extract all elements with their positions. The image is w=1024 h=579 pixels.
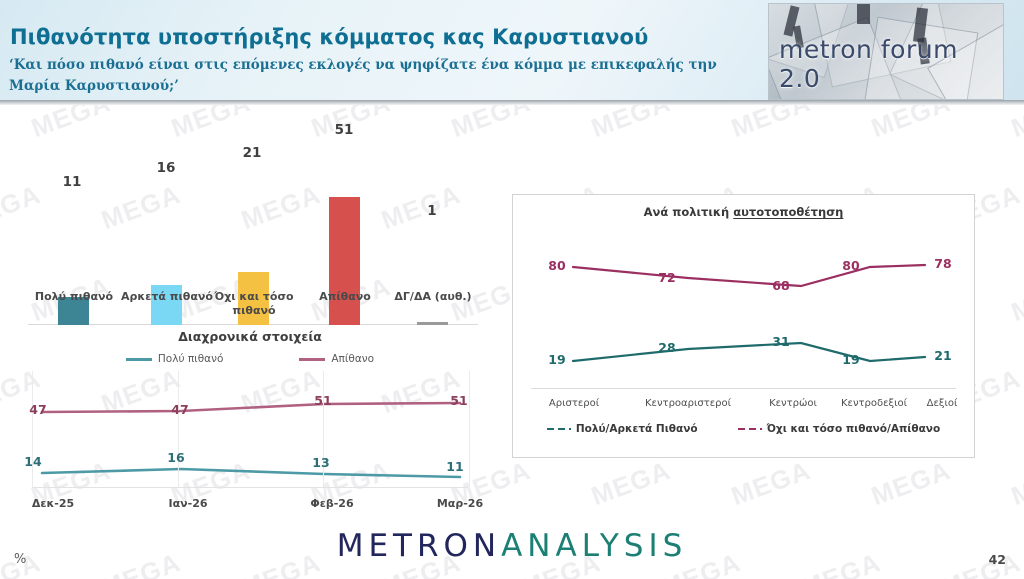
legend-item-polu-pithano: Πολύ πιθανό (126, 353, 223, 365)
page-subtitle: ‘Και πόσο πιθανό είναι στις επόμενες εκλ… (9, 55, 769, 97)
metron-forum-logo: metron forum 2.0 (768, 3, 1004, 100)
chart-main-bars: 11 16 21 51 1 Πολύ πιθανό Αρκετά πιθανό … (0, 110, 500, 325)
dash-swatch-teal-icon (547, 428, 571, 430)
right-panel-title-underlined: αυτοτοποθέτηση (733, 205, 843, 219)
timeseries-lines (33, 371, 469, 487)
rp-category-4: Δεξιοί (911, 398, 973, 409)
legend-item-apithano: Απίθανο (299, 353, 374, 365)
ts-value-apithano-3: 51 (434, 393, 484, 408)
bar-category-1: Αρκετά πιθανό (120, 290, 214, 303)
right-panel-legend: Πολύ/Αρκετά Πιθανό Όχι και τόσο πιθανό/Α… (513, 423, 974, 435)
ts-value-apithano-2: 51 (298, 393, 348, 408)
logo-analysis-text: ANALYSIS (501, 528, 687, 564)
watermark-text: MEGA (937, 547, 1024, 579)
page-title: Πιθανότητα υποστήριξης κόμματος κας Καρυ… (10, 25, 648, 49)
page-number: 42 (989, 552, 1006, 567)
rp-value-ochi-3: 80 (835, 258, 867, 273)
legend-swatch-teal-icon (126, 358, 152, 361)
bar-value-3: 51 (304, 122, 384, 138)
watermark-text: MEGA (587, 455, 675, 512)
watermark-text: MEGA (797, 547, 885, 579)
bar-category-0: Πολύ πιθανό (28, 290, 120, 303)
rp-legend-label-1: Όχι και τόσο πιθανό/Απίθανο (767, 423, 941, 435)
ts-value-polu-0: 14 (8, 454, 58, 469)
rp-category-1: Κεντροαριστεροί (631, 398, 745, 409)
legend-swatch-mauve-icon (299, 358, 325, 361)
rp-category-3: Κεντροδεξιοί (823, 398, 925, 409)
rp-value-polu-0: 19 (541, 352, 573, 367)
bar-value-4: 1 (392, 203, 472, 219)
watermark-text: MEGA (97, 547, 185, 579)
right-panel-axis-line (531, 388, 956, 389)
bar-value-0: 11 (32, 174, 112, 190)
bar-category-4: ΔΓ/ΔΑ (αυθ.) (387, 290, 479, 303)
rp-category-2: Κεντρώοι (753, 398, 833, 409)
timeseries-plot-area (32, 371, 470, 487)
ts-category-0: Δεκ-25 (13, 497, 93, 510)
bar-category-3: Απίθανο (303, 290, 387, 303)
rp-legend-item-ochi-apithano: Όχι και τόσο πιθανό/Απίθανο (738, 423, 941, 435)
watermark-text: MEGA (867, 455, 955, 512)
ts-value-polu-3: 11 (430, 459, 480, 474)
rp-value-polu-2: 31 (765, 334, 797, 349)
ts-value-polu-1: 16 (151, 450, 201, 465)
legend-label-0: Πολύ πιθανό (158, 353, 223, 365)
watermark-text: MEGA (1007, 455, 1024, 512)
ts-category-3: Μαρ-26 (420, 497, 500, 510)
rp-legend-label-0: Πολύ/Αρκετά Πιθανό (576, 423, 698, 435)
rp-value-polu-4: 21 (927, 348, 959, 363)
watermark-text: MEGA (727, 455, 815, 512)
chart-by-political-self-placement: Ανά πολιτική αυτοτοποθέτηση 80 72 68 80 … (512, 194, 975, 458)
rp-value-polu-3: 19 (835, 352, 867, 367)
rp-value-ochi-2: 68 (765, 278, 797, 293)
rp-value-ochi-4: 78 (927, 256, 959, 271)
watermark-text: MEGA (1007, 271, 1024, 328)
bar-category-2: Όχι και τόσο πιθανό (213, 290, 295, 318)
ts-category-2: Φεβ-26 (292, 497, 372, 510)
rp-value-ochi-1: 72 (651, 270, 683, 285)
timeseries-legend: Πολύ πιθανό Απίθανο (20, 353, 480, 365)
rp-value-ochi-0: 80 (541, 258, 573, 273)
ts-category-1: Ιαν-26 (148, 497, 228, 510)
timeseries-title: Διαχρονικά στοιχεία (20, 329, 480, 344)
legend-label-1: Απίθανο (331, 353, 374, 365)
header-divider (0, 100, 1024, 105)
ts-value-polu-2: 13 (296, 455, 346, 470)
bar-value-1: 16 (126, 160, 206, 176)
rp-category-0: Αριστεροί (531, 398, 617, 409)
ts-value-apithano-0: 47 (13, 402, 63, 417)
percent-unit-label: % (14, 552, 26, 567)
logo-metron-text: METRON (337, 528, 501, 564)
right-panel-title-prefix: Ανά πολιτική (644, 205, 734, 219)
timeseries-axis-line (32, 487, 468, 488)
dash-swatch-magenta-icon (738, 428, 762, 430)
right-panel-plot-area: 80 72 68 80 78 19 28 31 19 21 (533, 225, 954, 385)
right-panel-lines (533, 225, 954, 385)
gridline (178, 371, 179, 487)
metron-analysis-logo: METRONANALYSIS (337, 528, 688, 564)
rp-value-polu-1: 28 (651, 340, 683, 355)
watermark-text: MEGA (237, 547, 325, 579)
right-panel-title: Ανά πολιτική αυτοτοποθέτηση (513, 205, 974, 219)
slide-canvas: Πιθανότητα υποστήριξης κόμματος κας Καρυ… (0, 0, 1024, 579)
rp-legend-item-polu-arketa: Πολύ/Αρκετά Πιθανό (547, 423, 698, 435)
bar-3 (329, 197, 360, 325)
ts-value-apithano-1: 47 (155, 402, 205, 417)
bar-value-2: 21 (212, 145, 292, 161)
chart-timeseries: Διαχρονικά στοιχεία Πολύ πιθανό Απίθανο … (20, 325, 480, 525)
slide-header: Πιθανότητα υποστήριξης κόμματος κας Καρυ… (0, 0, 1024, 100)
logo-text: metron forum 2.0 (779, 35, 1003, 93)
